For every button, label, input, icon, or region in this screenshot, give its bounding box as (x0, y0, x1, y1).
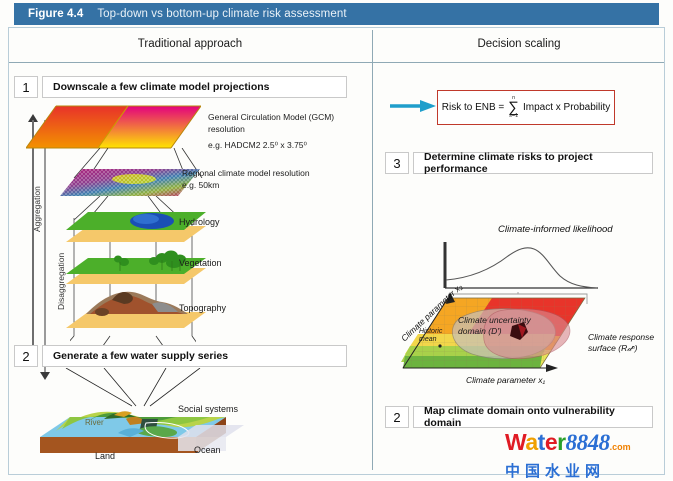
step-1-number: 1 (14, 76, 38, 98)
right-column-heading: Decision scaling (374, 38, 664, 50)
rcm-layer-graphic (60, 168, 200, 198)
risk-formula-box: Risk to ENB = n ∑ s=1 Impact x Probabili… (437, 90, 615, 125)
step-1-label: Downscale a few climate model projection… (42, 76, 347, 98)
likelihood-title: Climate-informed likelihood (498, 224, 613, 235)
step-3-label: Determine climate risks to project perfo… (413, 152, 653, 174)
rcm-annotation-line2: e.g. 50km (182, 179, 310, 191)
summation-lower-limit: s=1 (509, 114, 518, 120)
uncertainty-label-line1: Climate uncertainty (458, 315, 531, 326)
label-social-systems: Social systems (178, 404, 238, 414)
watermark-letter-a: a (525, 429, 537, 455)
historic-mean-label: Historic mean (419, 328, 442, 344)
column-header-rule (9, 62, 664, 63)
layer-label-hydrology: Hydrology (179, 217, 220, 227)
climate-response-surface-label: Climate response surface (R𝒹ⁿ) (588, 332, 654, 354)
step-2-right-number: 2 (385, 406, 409, 428)
step-2-right-label: Map climate domain onto vulnerability do… (413, 406, 653, 428)
layer-label-topography: Topography (179, 303, 226, 313)
figure-header-bar: Figure 4.4 Top-down vs bottom-up climate… (14, 3, 659, 25)
watermark-letter-w: W (505, 429, 525, 455)
climate-uncertainty-domain-label: Climate uncertainty domain (D′) (458, 315, 531, 337)
gcm-annotation-line1: General Circulation Model (GCM) (208, 111, 334, 123)
vegetation-layer-graphic (66, 250, 206, 286)
response-label-line1: Climate response (588, 332, 654, 343)
watermark-letter-e: e (545, 429, 557, 455)
aggregation-axis-line (32, 120, 34, 360)
figure-root: Figure 4.4 Top-down vs bottom-up climate… (0, 0, 673, 480)
gcm-annotation: General Circulation Model (GCM) resoluti… (208, 111, 334, 151)
aggregation-label: Aggregation (32, 186, 42, 232)
label-ocean: Ocean (194, 445, 221, 455)
step-2-left-label: Generate a few water supply series (42, 345, 347, 367)
hydrology-layer-graphic (66, 210, 206, 244)
historic-mean-line1: Historic (419, 328, 442, 336)
formula-lhs: Risk to ENB = (442, 102, 505, 113)
layer-label-vegetation: Vegetation (179, 258, 222, 268)
figure-number: Figure 4.4 (28, 8, 83, 20)
surface-x-axis-label: Climate parameter x₁ (466, 375, 545, 385)
label-land: Land (95, 451, 115, 461)
landscape-block-graphic (26, 375, 256, 465)
flow-arrow-icon (390, 99, 436, 113)
watermark: Water8848.com 中国水业网 (505, 431, 665, 475)
left-column-heading: Traditional approach (9, 38, 371, 50)
rcm-annotation-line1: Regional climate model resolution (182, 167, 310, 179)
rcm-annotation: Regional climate model resolution e.g. 5… (182, 167, 310, 191)
gcm-annotation-line2: resolution (208, 123, 334, 135)
watermark-brand: Water8848.com (505, 431, 665, 459)
formula-rhs: Impact x Probability (523, 102, 610, 113)
figure-title: Top-down vs bottom-up climate risk asses… (97, 8, 346, 20)
historic-mean-line2: mean (419, 336, 442, 344)
watermark-chinese: 中国水业网 (505, 460, 665, 481)
disaggregation-axis-line (44, 120, 46, 376)
summation-symbol: n ∑ s=1 (508, 96, 519, 120)
disaggregation-label: Disaggregation (56, 253, 66, 310)
step-3-number: 3 (385, 152, 409, 174)
step-2-left-number: 2 (14, 345, 38, 367)
step-3-determine-risks[interactable]: 3 Determine climate risks to project per… (385, 152, 653, 174)
column-divider (372, 30, 373, 470)
uncertainty-label-line2: domain (D′) (458, 326, 531, 337)
watermark-tld: .com (610, 442, 631, 452)
step-1-downscale[interactable]: 1 Downscale a few climate model projecti… (14, 76, 347, 98)
likelihood-curve-plot (440, 240, 600, 292)
label-river: River (85, 418, 104, 427)
step-2-map-climate-domain[interactable]: 2 Map climate domain onto vulnerability … (385, 406, 653, 428)
step-2-water-supply[interactable]: 2 Generate a few water supply series (14, 345, 347, 367)
watermark-letter-t: t (538, 429, 545, 455)
watermark-letter-r: r (557, 429, 565, 455)
risk-formula: Risk to ENB = n ∑ s=1 Impact x Probabili… (442, 96, 611, 120)
response-label-line2: surface (R𝒹ⁿ) (588, 343, 654, 354)
watermark-number: 8848 (566, 430, 610, 455)
